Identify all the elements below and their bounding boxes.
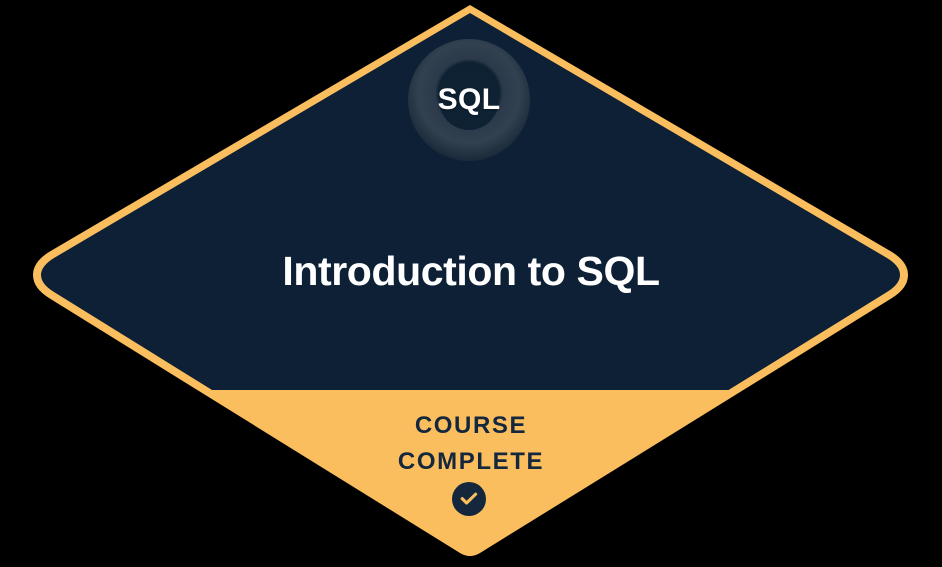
check-mark-icon xyxy=(460,491,478,507)
course-title: Introduction to SQL xyxy=(0,245,942,297)
sql-logo: SQL xyxy=(408,39,530,161)
sql-logo-label: SQL xyxy=(408,39,530,161)
check-circle-icon xyxy=(452,482,486,516)
status-block: COURSE COMPLETE xyxy=(0,408,942,480)
certificate-badge: SQL Introduction to SQL COURSE COMPLETE xyxy=(0,0,942,567)
status-line-2: COMPLETE xyxy=(0,444,942,480)
status-line-1: COURSE xyxy=(0,408,942,444)
